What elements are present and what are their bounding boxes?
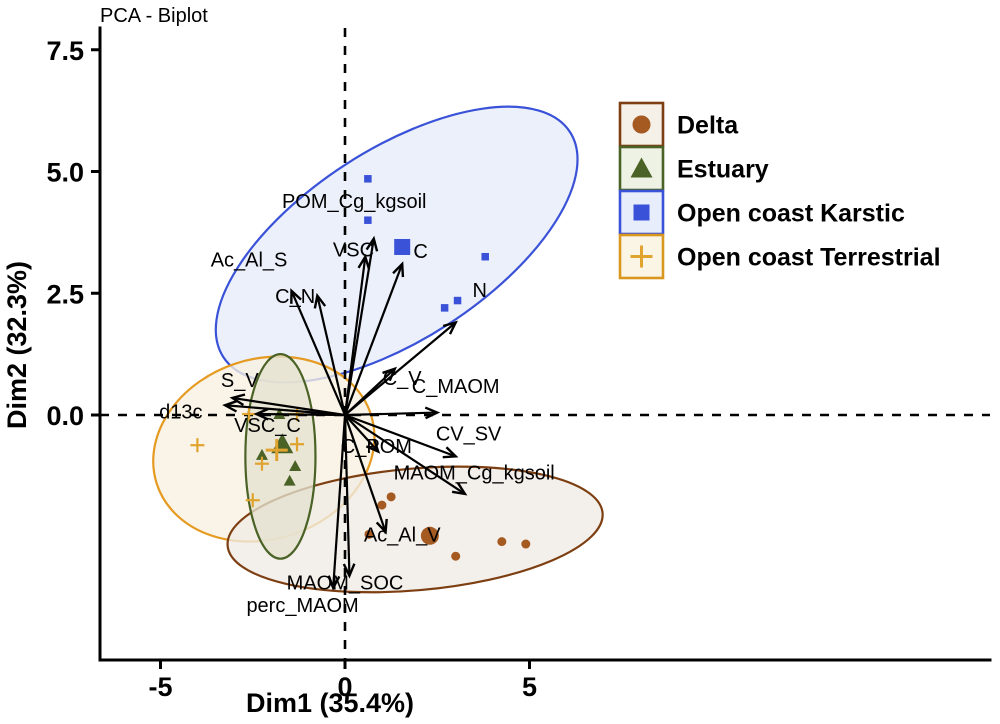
variable-label-c: C: [413, 241, 427, 263]
x-tick-label: 5: [522, 672, 537, 702]
variable-label-maom_soc: MAOM_SOC: [287, 572, 404, 594]
legend-label-open-coast-karstic: Open coast Karstic: [677, 200, 905, 228]
legend-square-icon: [634, 205, 650, 221]
centroid-marker-open-coast-karstic: [394, 239, 410, 255]
legend-label-delta: Delta: [677, 112, 739, 140]
data-point-delta: [497, 537, 506, 546]
variable-label-c_n: C_N: [275, 286, 315, 308]
data-point-open-coast-karstic: [441, 304, 449, 312]
legend-label-open-coast-terrestrial: Open coast Terrestrial: [677, 244, 941, 272]
x-axis-title: Dim1 (35.4%): [246, 688, 414, 718]
page-title: PCA - Biplot: [100, 5, 208, 27]
data-point-delta: [521, 540, 530, 549]
variable-label-d13c: d13c: [159, 401, 202, 423]
data-point-open-coast-karstic: [481, 253, 489, 261]
variable-label-ac_al_v: Ac_Al_V: [364, 525, 441, 547]
y-tick-label: 5.0: [46, 158, 84, 188]
variable-label-cv_sv: CV_SV: [436, 423, 502, 445]
legend-layer: DeltaEstuaryOpen coast KarsticOpen coast…: [620, 103, 941, 278]
data-point-open-coast-karstic: [364, 216, 372, 224]
data-point-delta: [387, 492, 396, 501]
y-tick-label: 2.5: [46, 279, 84, 309]
variable-label-maom_cg_kgsoil: MAOM_Cg_kgsoil: [394, 462, 555, 484]
variable-label-c_pom: C_POM: [341, 436, 412, 458]
variable-label-perc_maom: perc_MAOM: [246, 595, 358, 617]
legend-circle-icon: [633, 116, 651, 134]
variable-label-ac_al_s: Ac_Al_S: [211, 249, 288, 271]
data-point-open-coast-karstic: [454, 297, 462, 305]
variable-label-n: N: [472, 280, 486, 302]
variable-label-vsc: VSC: [333, 240, 374, 262]
y-tick-label: 0.0: [46, 401, 84, 431]
variable-label-c_maom: C_MAOM: [412, 376, 500, 398]
confidence-ellipses-layer: [129, 52, 622, 606]
pca-biplot-figure: Ac_Al_SC_NPOM_Cg_kgsoilVSCCNC_VC_MAOMCV_…: [0, 0, 1000, 724]
y-tick-label: 7.5: [46, 36, 84, 66]
variable-label-vsc_c: VSC_C: [234, 415, 301, 437]
y-axis-title: Dim2 (32.3%): [2, 261, 32, 429]
data-point-delta: [377, 501, 386, 510]
data-point-delta: [451, 552, 460, 561]
x-tick-label: -5: [148, 672, 172, 702]
variable-label-pom_cg_kgsoil: POM_Cg_kgsoil: [282, 191, 427, 213]
data-point-open-coast-karstic: [364, 175, 372, 183]
variable-label-s_v: S_V: [221, 370, 259, 392]
legend-label-estuary: Estuary: [677, 156, 769, 184]
biplot-svg: Ac_Al_SC_NPOM_Cg_kgsoilVSCCNC_VC_MAOMCV_…: [0, 0, 1000, 724]
